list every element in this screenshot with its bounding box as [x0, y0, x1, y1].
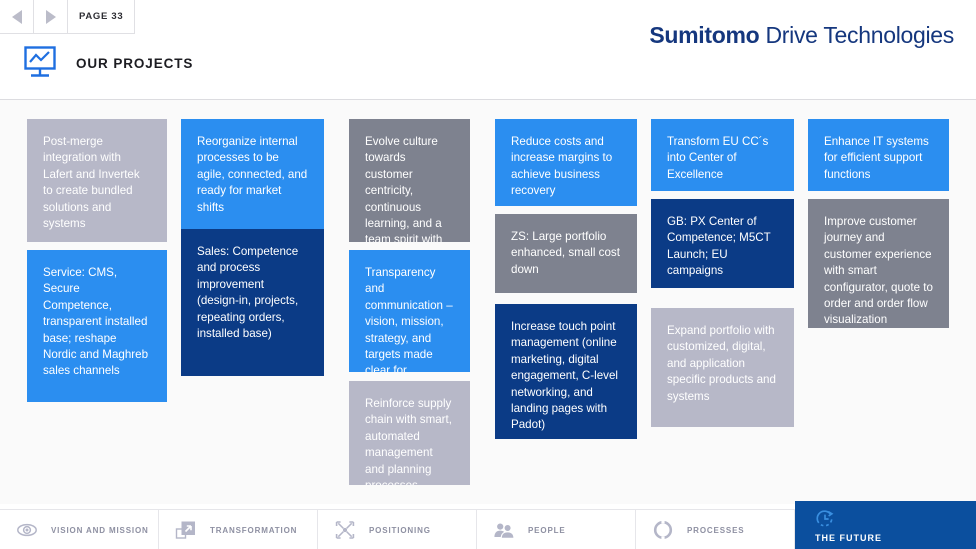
project-card-text: Expand portfolio with customized, digita… — [667, 324, 776, 403]
prev-page-button[interactable] — [0, 0, 34, 34]
arrow-out-of-box-icon — [175, 519, 197, 541]
project-card-text: Evolve culture towards customer centrici… — [365, 135, 442, 242]
clock-arrow-icon — [815, 509, 835, 529]
page-title-label: OUR PROJECTS — [76, 56, 193, 71]
pager: PAGE 33 — [0, 0, 135, 34]
project-card[interactable]: Reduce costs and increase margins to ach… — [495, 119, 637, 206]
people-icon — [493, 519, 515, 541]
nav-item-vision-and-mission[interactable]: VISION AND MISSION — [0, 510, 159, 549]
project-card-text: GB: PX Center of Competence; M5CT Launch… — [667, 215, 771, 277]
nav-item-positioning[interactable]: POSITIONING — [318, 510, 477, 549]
bottom-navigation: VISION AND MISSION TRANSFORMATION PO — [0, 509, 976, 549]
projects-board: Post-merge integration with Lafert and I… — [0, 100, 976, 504]
nav-item-label: PROCESSES — [687, 526, 744, 535]
project-card[interactable]: Transform EU CC´s into Center of Excelle… — [651, 119, 794, 191]
project-card[interactable]: Reorganize internal processes to be agil… — [181, 119, 324, 230]
project-card-text: Transform EU CC´s into Center of Excelle… — [667, 135, 768, 181]
project-card[interactable]: Sales: Competence and process improvemen… — [181, 229, 324, 376]
project-card-text: Reinforce supply chain with smart, autom… — [365, 397, 452, 485]
next-page-button[interactable] — [34, 0, 68, 34]
project-card[interactable]: Post-merge integration with Lafert and I… — [27, 119, 167, 242]
slide-root: PAGE 33 Sumitomo Drive Technologies OUR … — [0, 0, 976, 549]
circular-arrows-icon — [652, 519, 674, 541]
project-card[interactable]: Expand portfolio with customized, digita… — [651, 308, 794, 427]
project-card[interactable]: GB: PX Center of Competence; M5CT Launch… — [651, 199, 794, 288]
triangle-right-icon — [46, 10, 56, 24]
expand-arrows-icon — [334, 519, 356, 541]
project-card[interactable]: Service: CMS, Secure Competence, transpa… — [27, 250, 167, 402]
project-card-text: Enhance IT systems for efficient support… — [824, 135, 929, 181]
nav-item-label: VISION AND MISSION — [51, 526, 149, 535]
project-card-text: Increase touch point management (online … — [511, 320, 618, 431]
eye-icon — [16, 519, 38, 541]
project-card[interactable]: Improve customer journey and customer ex… — [808, 199, 949, 328]
project-card-text: Reorganize internal processes to be agil… — [197, 135, 307, 214]
brand-logo: Sumitomo Drive Technologies — [649, 24, 954, 47]
nav-item-label: TRANSFORMATION — [210, 526, 297, 535]
project-card[interactable]: Transparency and communication – vision,… — [349, 250, 470, 372]
project-card[interactable]: Enhance IT systems for efficient support… — [808, 119, 949, 191]
project-card[interactable]: ZS: Large portfolio enhanced, small cost… — [495, 214, 637, 293]
project-card[interactable]: Evolve culture towards customer centrici… — [349, 119, 470, 242]
nav-item-label: PEOPLE — [528, 526, 566, 535]
project-card-text: Reduce costs and increase margins to ach… — [511, 135, 612, 197]
project-card-text: Service: CMS, Secure Competence, transpa… — [43, 266, 148, 377]
nav-item-label: THE FUTURE — [815, 533, 882, 543]
page-number-label: PAGE 33 — [68, 0, 135, 34]
nav-item-people[interactable]: PEOPLE — [477, 510, 636, 549]
nav-item-label: POSITIONING — [369, 526, 431, 535]
nav-item-processes[interactable]: PROCESSES — [636, 510, 795, 549]
project-card-text: Transparency and communication – vision,… — [365, 266, 453, 372]
nav-item-the-future[interactable]: THE FUTURE — [795, 501, 976, 549]
brand-name-bold: Sumitomo — [649, 22, 759, 48]
project-card-text: Improve customer journey and customer ex… — [824, 215, 933, 326]
project-card-text: Sales: Competence and process improvemen… — [197, 245, 298, 340]
nav-item-transformation[interactable]: TRANSFORMATION — [159, 510, 318, 549]
triangle-left-icon — [12, 10, 22, 24]
project-card[interactable]: Reinforce supply chain with smart, autom… — [349, 381, 470, 485]
project-card[interactable]: Increase touch point management (online … — [495, 304, 637, 439]
header-bar: PAGE 33 Sumitomo Drive Technologies OUR … — [0, 0, 976, 100]
presentation-chart-icon — [20, 45, 60, 81]
project-card-text: ZS: Large portfolio enhanced, small cost… — [511, 230, 620, 276]
project-card-text: Post-merge integration with Lafert and I… — [43, 135, 140, 230]
brand-name-light: Drive Technologies — [765, 22, 954, 48]
page-title: OUR PROJECTS — [20, 45, 193, 81]
